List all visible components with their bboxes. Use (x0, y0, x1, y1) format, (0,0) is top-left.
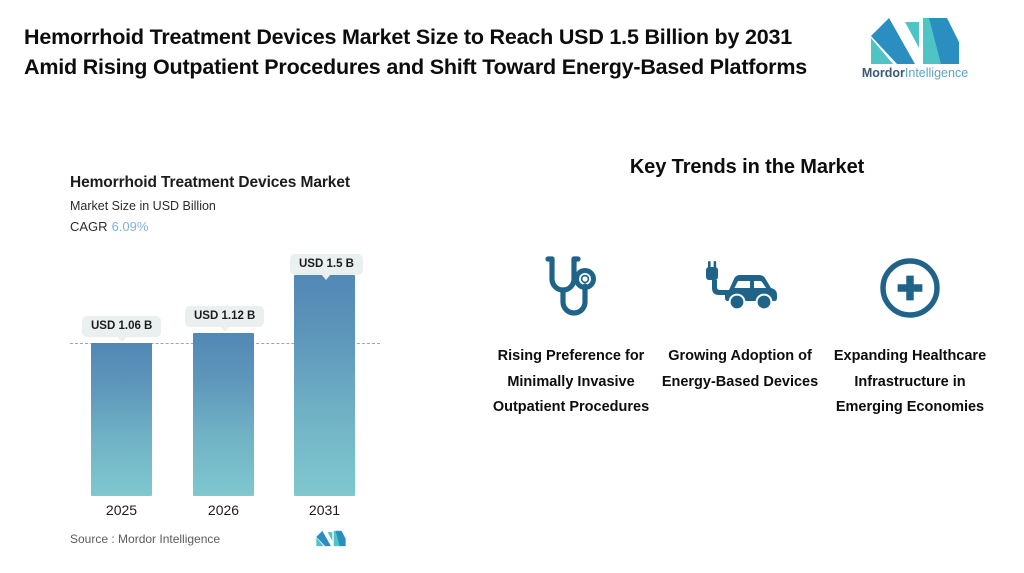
x-axis-tick-2025: 2025 (91, 502, 152, 518)
bar-value-label-2025: USD 1.06 B (82, 316, 161, 337)
mordor-m-mark-icon (867, 18, 963, 64)
trend-label-1: Rising Preference for Minimally Invasive… (486, 344, 656, 421)
bar-2026 (193, 333, 254, 496)
x-axis-tick-2031: 2031 (294, 502, 355, 518)
bar-2031 (294, 275, 355, 496)
mordor-m-mark-icon (315, 530, 347, 547)
brand-word-secondary: Intelligence (905, 66, 968, 80)
bar-chart-plot-area: USD 1.06 B USD 1.12 B USD 1.5 B 2025 202… (0, 150, 470, 570)
trend-label-2: Growing Adoption of Energy-Based Devices (655, 344, 825, 395)
stethoscope-icon-glyph (540, 254, 602, 322)
bar-value-label-2031: USD 1.5 B (290, 254, 363, 275)
stethoscope-icon (486, 250, 656, 326)
electric-car-icon-glyph (701, 257, 779, 319)
brand-wordmark: MordorIntelligence (860, 66, 970, 80)
bar-value-label-2026: USD 1.12 B (185, 306, 264, 327)
trend-item-minimally-invasive: Rising Preference for Minimally Invasive… (486, 250, 656, 421)
key-trends-heading: Key Trends in the Market (470, 156, 1024, 179)
key-trends-panel: Key Trends in the Market Rising Preferen… (470, 150, 1024, 570)
electric-car-icon (655, 250, 825, 326)
x-axis-tick-2026: 2026 (193, 502, 254, 518)
bar-2025 (91, 343, 152, 496)
chart-source-label: Source : Mordor Intelligence (70, 532, 220, 546)
trend-item-energy-based-devices: Growing Adoption of Energy-Based Devices (655, 250, 825, 395)
trend-item-healthcare-infrastructure: Expanding Healthcare Infrastructure in E… (825, 250, 995, 421)
trend-label-3: Expanding Healthcare Infrastructure in E… (825, 344, 995, 421)
medical-cross-circle-icon (825, 250, 995, 326)
medical-cross-circle-icon-glyph (878, 256, 942, 320)
brand-word-primary: Mordor (862, 66, 905, 80)
brand-logo: MordorIntelligence (860, 18, 970, 90)
page-title: Hemorrhoid Treatment Devices Market Size… (24, 22, 834, 82)
chart-panel: Hemorrhoid Treatment Devices Market Mark… (0, 150, 470, 570)
